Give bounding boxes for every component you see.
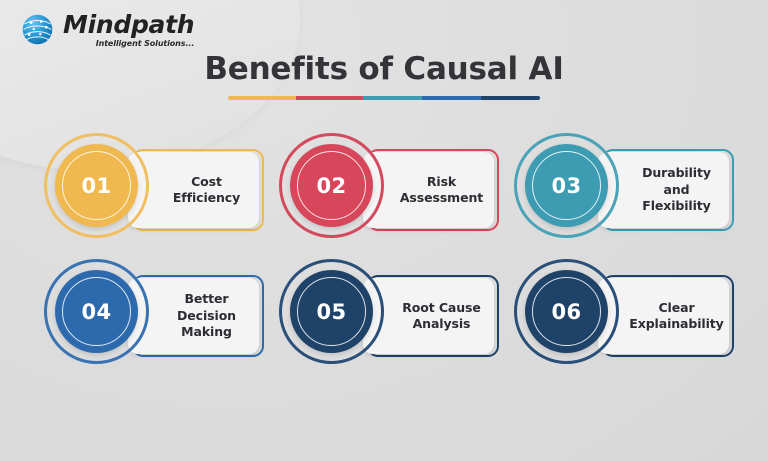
globe-network-icon bbox=[19, 11, 56, 48]
benefit-number: 05 bbox=[316, 300, 346, 324]
benefit-number: 02 bbox=[316, 174, 346, 198]
title-underline-segment-4 bbox=[422, 96, 481, 100]
badge-disc: 03 bbox=[525, 144, 608, 227]
benefit-number: 01 bbox=[81, 174, 111, 198]
badge-disc: 06 bbox=[525, 270, 608, 353]
benefit-item[interactable]: Root Cause Analysis 05 bbox=[279, 259, 499, 372]
infographic-canvas: Mindpath Intelligent Solutions... Benefi… bbox=[0, 0, 768, 461]
benefit-label: Cost Efficiency bbox=[164, 174, 249, 207]
benefit-badge: 05 bbox=[279, 259, 384, 364]
benefits-grid: Cost Efficiency 01 Risk Assessment 02 bbox=[44, 133, 734, 372]
page-title: Benefits of Causal AI bbox=[0, 52, 768, 86]
benefit-item[interactable]: Risk Assessment 02 bbox=[279, 133, 499, 246]
title-underline-segment-5 bbox=[481, 96, 540, 100]
benefit-label: Clear Explainability bbox=[629, 300, 723, 333]
badge-disc: 04 bbox=[55, 270, 138, 353]
benefit-item[interactable]: Better Decision Making 04 bbox=[44, 259, 264, 372]
title-underline-segment-2 bbox=[296, 96, 364, 100]
brand-logo[interactable]: Mindpath Intelligent Solutions... bbox=[19, 11, 194, 48]
benefit-badge: 03 bbox=[514, 133, 619, 238]
benefit-number: 04 bbox=[81, 300, 111, 324]
benefit-label: Durability and Flexibility bbox=[634, 165, 719, 215]
benefit-label: Better Decision Making bbox=[164, 291, 249, 341]
benefit-item[interactable]: Clear Explainability 06 bbox=[514, 259, 734, 372]
benefit-badge: 06 bbox=[514, 259, 619, 364]
benefit-number: 03 bbox=[551, 174, 581, 198]
benefit-badge: 01 bbox=[44, 133, 149, 238]
title-block: Benefits of Causal AI bbox=[0, 52, 768, 100]
benefit-number: 06 bbox=[551, 300, 581, 324]
benefit-badge: 02 bbox=[279, 133, 384, 238]
badge-disc: 01 bbox=[55, 144, 138, 227]
brand-name: Mindpath bbox=[63, 12, 194, 37]
benefit-badge: 04 bbox=[44, 259, 149, 364]
brand-tagline: Intelligent Solutions... bbox=[96, 40, 195, 48]
benefit-label: Root Cause Analysis bbox=[399, 300, 484, 333]
title-underline-segment-1 bbox=[228, 96, 296, 100]
title-underline-segment-3 bbox=[363, 96, 422, 100]
benefit-item[interactable]: Cost Efficiency 01 bbox=[44, 133, 264, 246]
badge-disc: 02 bbox=[290, 144, 373, 227]
badge-disc: 05 bbox=[290, 270, 373, 353]
title-underline bbox=[228, 96, 540, 100]
benefit-item[interactable]: Durability and Flexibility 03 bbox=[514, 133, 734, 246]
benefit-label: Risk Assessment bbox=[399, 174, 484, 207]
